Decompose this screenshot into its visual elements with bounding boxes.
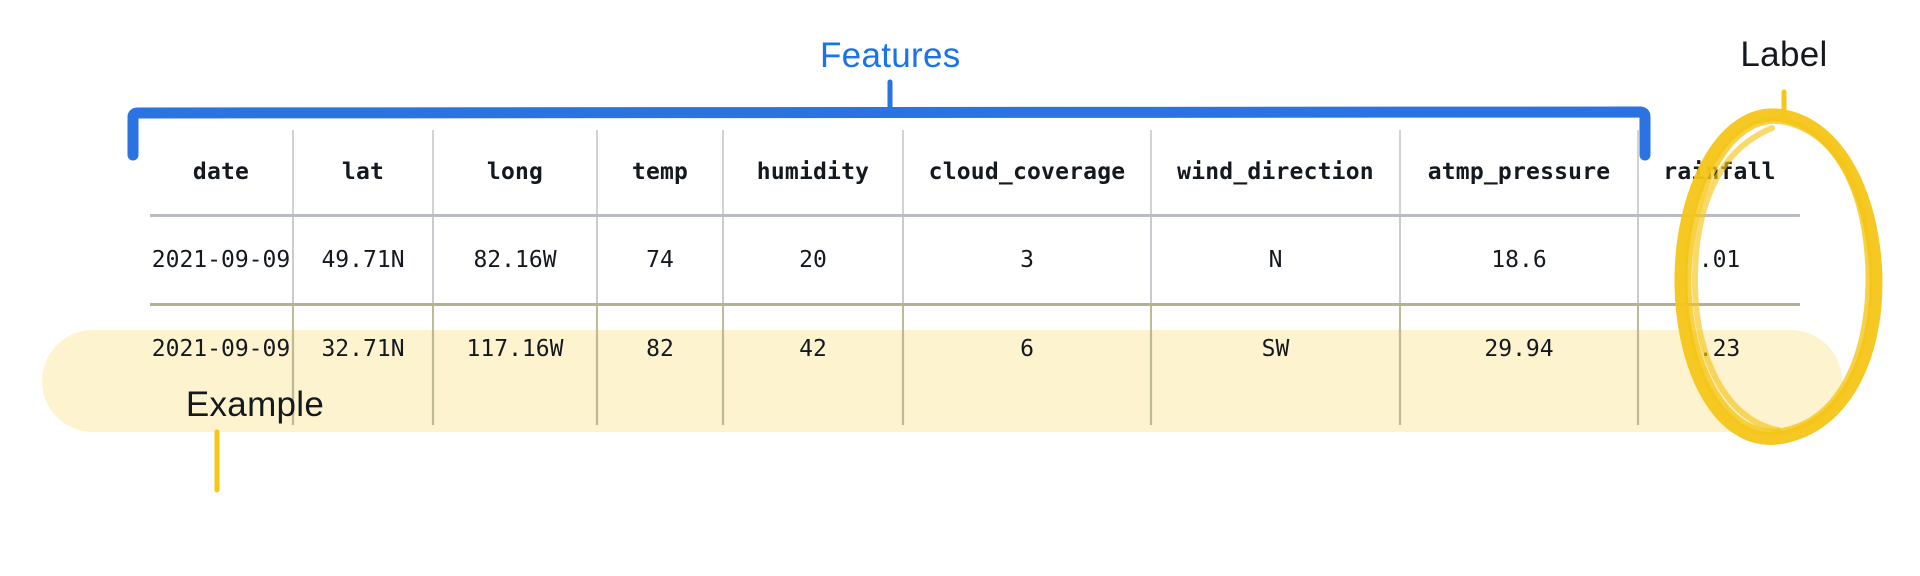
cell-cloud-coverage: 6 [903,305,1151,393]
cell-long: 117.16W [433,305,597,393]
cell-date: 2021-09-09 [150,305,293,393]
column-header-atmp-pressure: atmp_pressure [1400,130,1638,216]
column-header-long: long [433,130,597,216]
cell-rainfall: .01 [1638,216,1800,305]
example-annotation-label: Example [150,385,360,425]
cell-humidity: 20 [723,216,903,305]
table-row: 2021-09-09 32.71N 117.16W 82 42 6 SW 29.… [150,305,1800,393]
cell-cloud-coverage: 3 [903,216,1151,305]
features-annotation-label: Features [820,36,960,76]
column-header-rainfall: rainfall [1638,130,1800,216]
cell-wind-direction: N [1151,216,1400,305]
column-header-wind-direction: wind_direction [1151,130,1400,216]
column-header-lat: lat [293,130,433,216]
cell-lat: 49.71N [293,216,433,305]
cell-temp: 82 [597,305,723,393]
diagram-canvas: date lat long temp humidity cloud_covera… [0,0,1920,576]
dataset-table: date lat long temp humidity cloud_covera… [150,130,1800,392]
table-header: date lat long temp humidity cloud_covera… [150,130,1800,216]
cell-atmp-pressure: 29.94 [1400,305,1638,393]
column-header-cloud-coverage: cloud_coverage [903,130,1151,216]
cell-atmp-pressure: 18.6 [1400,216,1638,305]
dataset-table-wrapper: date lat long temp humidity cloud_covera… [150,130,1800,392]
column-header-humidity: humidity [723,130,903,216]
table-body: 2021-09-09 49.71N 82.16W 74 20 3 N 18.6 … [150,216,1800,393]
table-row: 2021-09-09 49.71N 82.16W 74 20 3 N 18.6 … [150,216,1800,305]
cell-temp: 74 [597,216,723,305]
cell-lat: 32.71N [293,305,433,393]
table-header-row: date lat long temp humidity cloud_covera… [150,130,1800,216]
cell-wind-direction: SW [1151,305,1400,393]
cell-rainfall: .23 [1638,305,1800,393]
column-header-temp: temp [597,130,723,216]
column-header-date: date [150,130,293,216]
cell-humidity: 42 [723,305,903,393]
label-annotation-label: Label [1694,35,1874,75]
cell-long: 82.16W [433,216,597,305]
cell-date: 2021-09-09 [150,216,293,305]
